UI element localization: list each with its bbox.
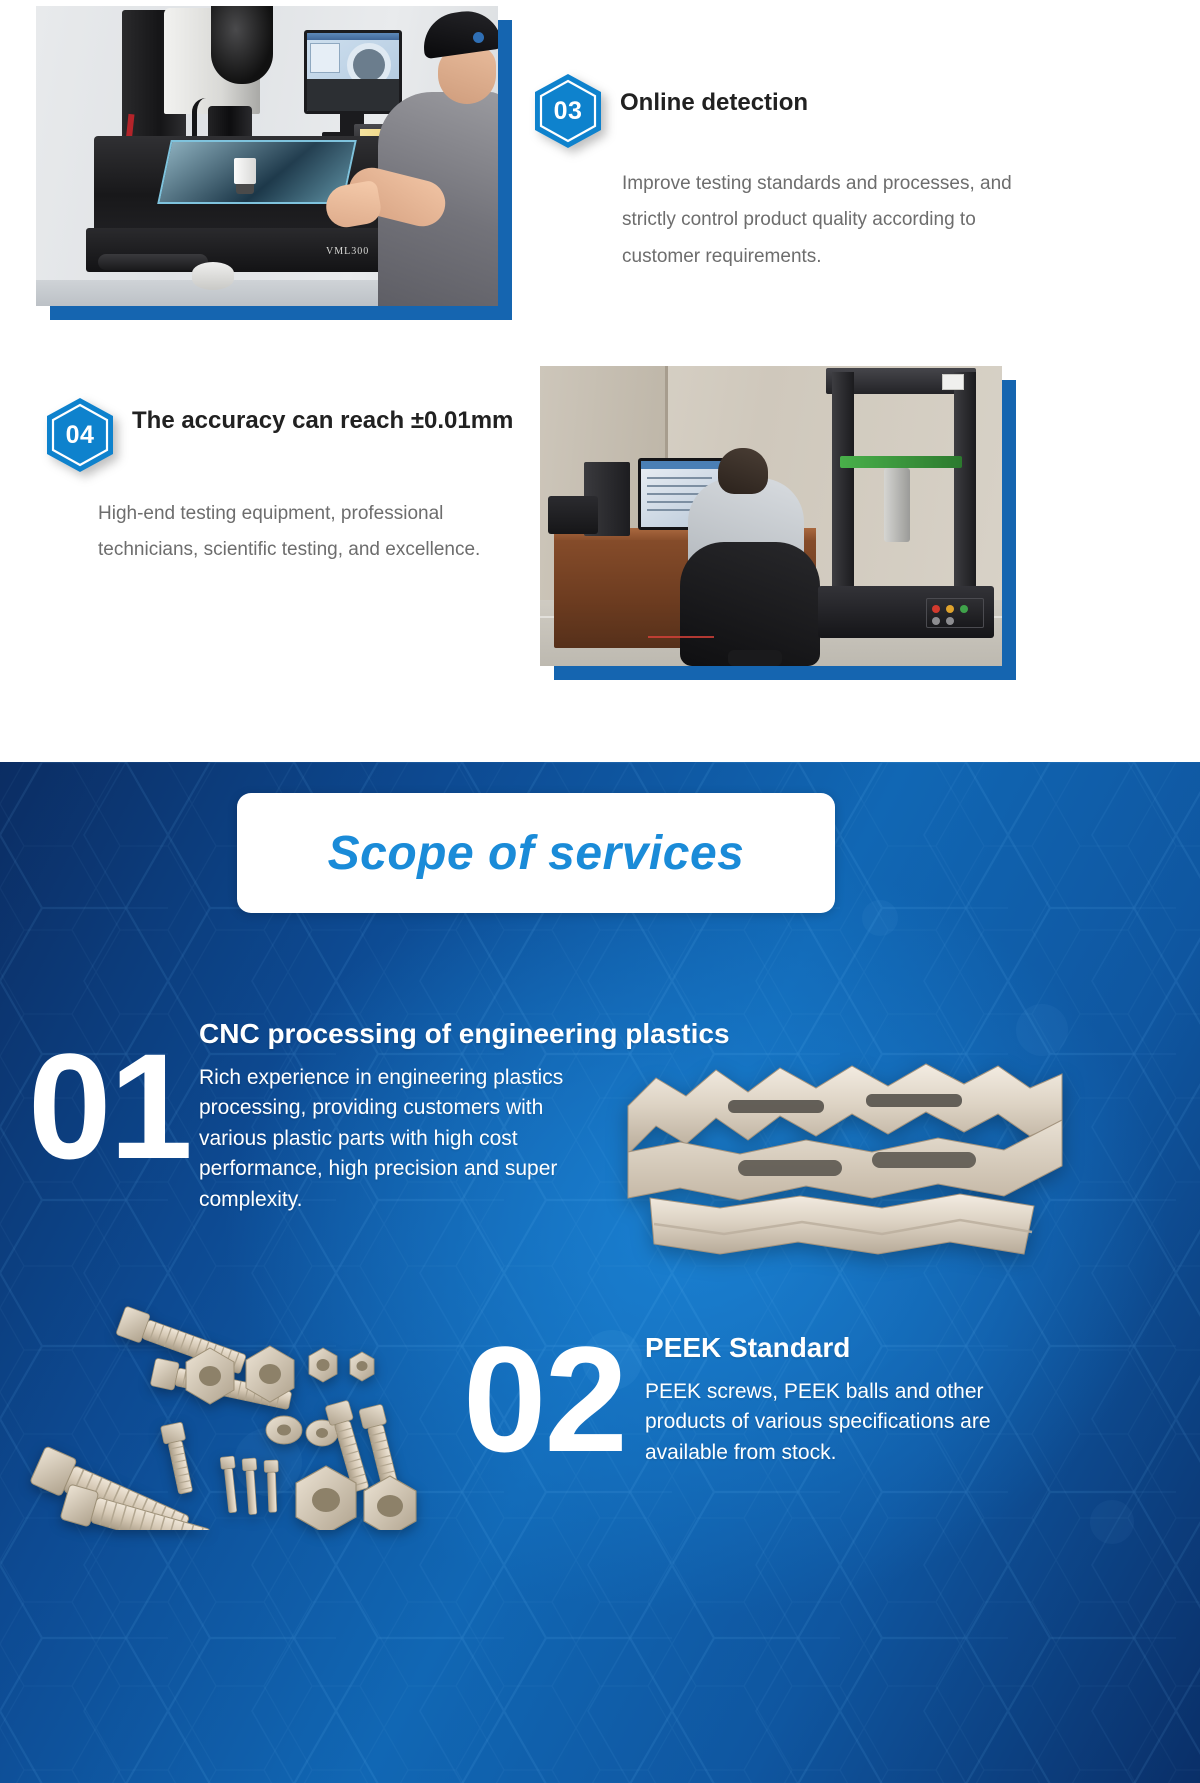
vision-measuring-machine-photo: VML300 bbox=[36, 6, 498, 306]
machine-model-label: VML300 bbox=[326, 246, 369, 257]
office-chair bbox=[680, 542, 820, 666]
scope-item-01: CNC processing of engineering plastics R… bbox=[199, 1016, 939, 1215]
wall-sign bbox=[942, 374, 964, 390]
scope-item-02-number: 02 bbox=[463, 1335, 626, 1464]
machine-glass-stage bbox=[157, 140, 357, 204]
scope-item-02-body: PEEK screws, PEEK balls and other produc… bbox=[645, 1377, 1017, 1468]
scope-item-01-number: 01 bbox=[28, 1042, 191, 1171]
universal-testing-machine bbox=[818, 368, 994, 632]
operator-cap-badge bbox=[473, 32, 484, 43]
machine-column-left bbox=[832, 372, 854, 588]
machine-optical-shade bbox=[211, 6, 273, 84]
feature-04-number: 04 bbox=[44, 396, 116, 474]
online-detection-photo-frame: VML300 bbox=[36, 6, 498, 306]
feature-03-number: 03 bbox=[532, 72, 604, 150]
hexagon-badge-icon: 04 bbox=[44, 396, 116, 474]
accuracy-photo-frame bbox=[540, 366, 1002, 666]
feature-block-03: 03 Online detection Improve testing stan… bbox=[622, 72, 1022, 275]
operator-head bbox=[718, 448, 768, 494]
machine-handwheel bbox=[192, 262, 234, 290]
machine-grip bbox=[884, 468, 910, 542]
feature-03-body: Improve testing standards and processes,… bbox=[622, 166, 1022, 275]
scope-title-card: Scope of services bbox=[237, 793, 835, 913]
features-section: VML300 03 Online detection Improve test bbox=[0, 0, 1200, 762]
hexagon-badge-icon: 03 bbox=[532, 72, 604, 150]
operator bbox=[380, 6, 498, 306]
machine-control-panel bbox=[926, 598, 984, 628]
measured-part bbox=[234, 158, 256, 184]
feature-04-body: High-end testing equipment, professional… bbox=[98, 496, 518, 569]
chair-base bbox=[728, 650, 782, 666]
scope-title: Scope of services bbox=[328, 826, 745, 881]
machine-axis-rail bbox=[98, 254, 208, 270]
scope-item-01-title: CNC processing of engineering plastics bbox=[199, 1016, 939, 1051]
feature-04-title: The accuracy can reach ±0.01mm bbox=[132, 396, 513, 439]
feature-block-04: 04 The accuracy can reach ±0.01mm High-e… bbox=[44, 396, 514, 569]
screen-side-panel bbox=[310, 43, 340, 73]
floor-red-line bbox=[648, 636, 714, 638]
scope-item-02: PEEK Standard PEEK screws, PEEK balls an… bbox=[645, 1330, 1025, 1468]
feature-04-header: 04 The accuracy can reach ±0.01mm bbox=[44, 396, 514, 474]
machine-green-crossbar bbox=[840, 456, 962, 468]
feature-03-title: Online detection bbox=[620, 72, 808, 121]
scope-item-02-title: PEEK Standard bbox=[645, 1330, 1025, 1365]
scope-item-01-body: Rich experience in engineering plastics … bbox=[199, 1063, 599, 1215]
machine-column-right bbox=[954, 372, 976, 588]
feature-03-header: 03 Online detection bbox=[532, 72, 1022, 150]
printer bbox=[548, 496, 598, 534]
universal-testing-machine-photo bbox=[540, 366, 1002, 666]
peek-fasteners-image bbox=[30, 1270, 470, 1530]
